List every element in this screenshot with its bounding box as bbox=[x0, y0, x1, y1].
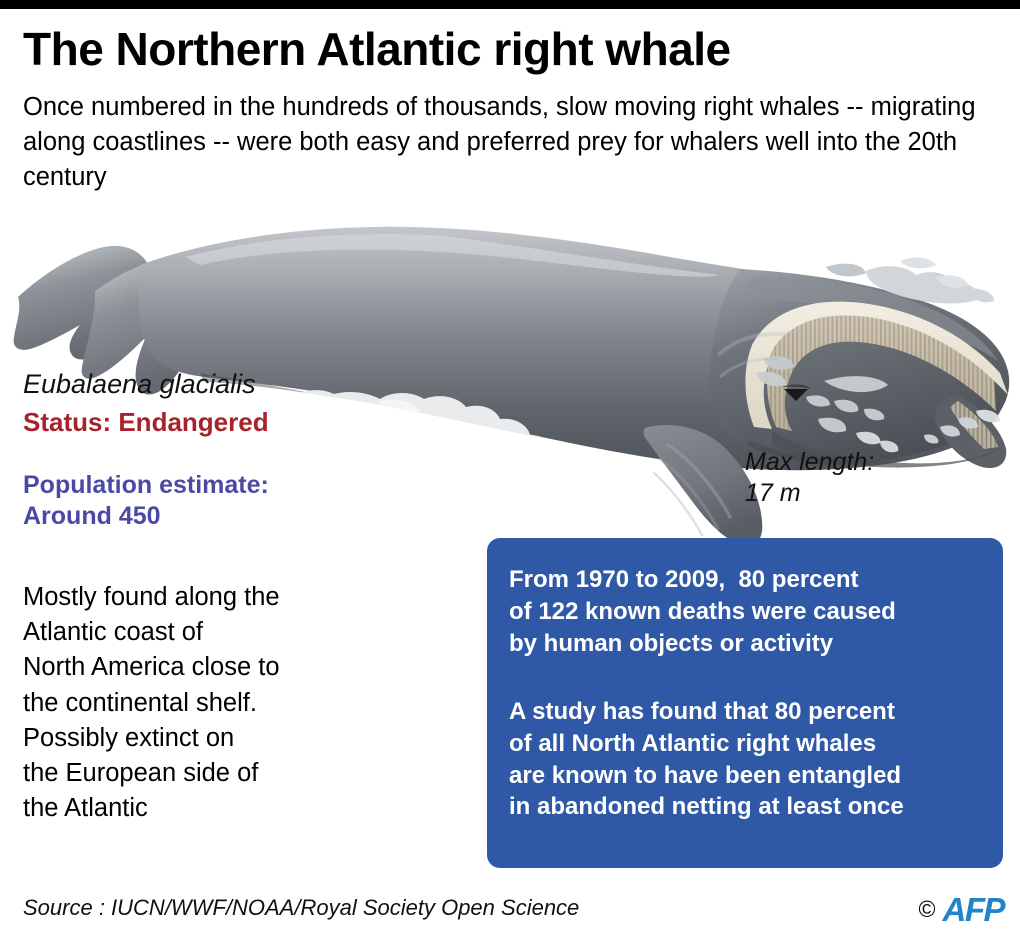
max-length-label: Max length: 17 m bbox=[745, 447, 874, 509]
agency-credit: © AFP bbox=[919, 893, 1004, 926]
stat-paragraph-entanglement: A study has found that 80 percent of all… bbox=[509, 696, 985, 824]
top-black-bar bbox=[0, 0, 1020, 9]
afp-logo: AFP bbox=[943, 893, 1005, 926]
page-title: The Northern Atlantic right whale bbox=[23, 26, 731, 72]
page-subtitle: Once numbered in the hundreds of thousan… bbox=[23, 90, 1003, 196]
source-line: Source : IUCN/WWF/NOAA/Royal Society Ope… bbox=[23, 895, 579, 921]
statistics-box: From 1970 to 2009, 80 percent of 122 kno… bbox=[487, 538, 1003, 868]
habitat-description: Mostly found along the Atlantic coast of… bbox=[23, 580, 443, 826]
copyright-icon: © bbox=[919, 898, 936, 921]
whale-head bbox=[709, 258, 1009, 469]
population-estimate: Population estimate: Around 450 bbox=[23, 470, 269, 531]
stat-paragraph-deaths: From 1970 to 2009, 80 percent of 122 kno… bbox=[509, 564, 985, 660]
species-scientific-name: Eubalaena glacialis bbox=[23, 369, 256, 400]
status-badge: Status: Endangered bbox=[23, 407, 269, 438]
infographic-root: The Northern Atlantic right whale Once n… bbox=[0, 0, 1020, 940]
